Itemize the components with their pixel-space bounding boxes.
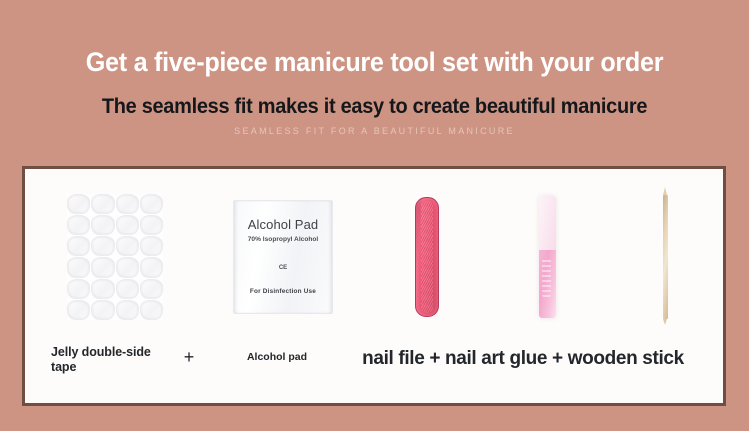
- tape-tab: [91, 300, 114, 320]
- tape-tab: [116, 257, 139, 277]
- caption-row: Jelly double-side tape + Alcohol pad nai…: [25, 345, 723, 403]
- product-image-strip: Alcohol Pad 70% Isopropyl Alcohol CE For…: [25, 169, 723, 345]
- tape-tab: [140, 215, 163, 235]
- tape-tab: [116, 215, 139, 235]
- tape-tab: [67, 194, 90, 214]
- tape-tab: [140, 194, 163, 214]
- tape-tab: [140, 279, 163, 299]
- tape-tab: [140, 257, 163, 277]
- product-image-jelly-tape: [31, 169, 199, 345]
- caption-alcohol-pad: Alcohol pad: [217, 345, 337, 364]
- product-image-nail-art-glue: [487, 169, 607, 345]
- tape-tab: [91, 194, 114, 214]
- tape-tab: [91, 236, 114, 256]
- tape-tab: [140, 300, 163, 320]
- tape-tab: [116, 236, 139, 256]
- alcohol-pad-subtitle: 70% Isopropyl Alcohol: [248, 236, 318, 243]
- caption-jelly-tape: Jelly double-side tape: [51, 345, 171, 376]
- glue-cap: [539, 196, 556, 250]
- ce-mark: CE: [279, 265, 287, 271]
- promo-banner: Get a five-piece manicure tool set with …: [0, 0, 749, 431]
- headline-primary: Get a five-piece manicure tool set with …: [19, 0, 731, 77]
- tape-tab: [116, 300, 139, 320]
- headline-kicker: SEAMLESS FIT FOR A BEAUTIFUL MANICURE: [0, 118, 749, 136]
- glue-body: [539, 250, 556, 318]
- jelly-tape-sheet: [67, 194, 163, 320]
- product-image-alcohol-pad: Alcohol Pad 70% Isopropyl Alcohol CE For…: [199, 169, 367, 345]
- product-image-wooden-stick: [607, 169, 723, 345]
- headline-block: Get a five-piece manicure tool set with …: [0, 0, 749, 136]
- product-image-nail-file: [367, 169, 487, 345]
- headline-secondary: The seamless fit makes it easy to create…: [19, 77, 731, 118]
- tape-tab: [116, 194, 139, 214]
- tape-tab: [116, 279, 139, 299]
- glue-tube-graphic: [539, 196, 556, 318]
- caption-remaining-tools: nail file + nail art glue + wooden stick: [327, 345, 719, 370]
- tape-tab: [67, 279, 90, 299]
- alcohol-pad-sachet: Alcohol Pad 70% Isopropyl Alcohol CE For…: [233, 200, 333, 314]
- product-card: Alcohol Pad 70% Isopropyl Alcohol CE For…: [22, 166, 726, 406]
- tape-tab: [67, 257, 90, 277]
- tape-tab: [67, 300, 90, 320]
- tape-tab: [91, 215, 114, 235]
- tape-tab: [67, 215, 90, 235]
- tape-tab: [140, 236, 163, 256]
- wooden-stick-graphic: [663, 195, 668, 319]
- tape-tab: [91, 257, 114, 277]
- tape-tab: [91, 279, 114, 299]
- nail-file-graphic: [415, 197, 439, 317]
- alcohol-pad-title: Alcohol Pad: [248, 217, 318, 232]
- tape-tab: [67, 236, 90, 256]
- alcohol-pad-footer: For Disinfection Use: [250, 288, 316, 295]
- caption-plus-separator: +: [177, 345, 201, 369]
